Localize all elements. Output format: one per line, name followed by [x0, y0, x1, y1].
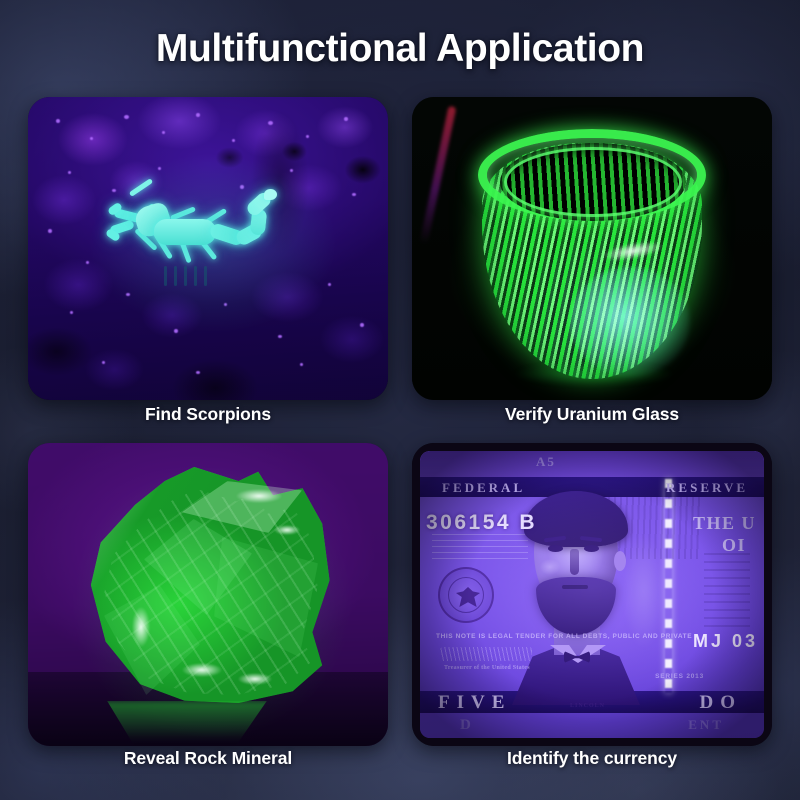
- scorpion-figure: [114, 175, 304, 310]
- banknote-strip-code: MJ 03: [693, 631, 758, 652]
- portrait-eye: [584, 545, 599, 552]
- uranium-glass-bowl: [474, 117, 710, 382]
- banknote-bottom-edge-left: D: [460, 717, 475, 734]
- image-card-reveal-rock-mineral[interactable]: [28, 443, 388, 746]
- feature-grid: Find Scorpions Verify Uranium Glass: [28, 97, 772, 773]
- card-caption: Reveal Rock Mineral: [28, 748, 388, 769]
- feature-cell-find-scorpions: Find Scorpions: [28, 97, 388, 443]
- banknote-denomination-right: DO: [700, 692, 743, 714]
- feature-cell-verify-uranium-glass: Verify Uranium Glass: [412, 97, 772, 443]
- portrait-ear: [614, 551, 626, 571]
- banknote-legal-tender-text: THIS NOTE IS LEGAL TENDER FOR ALL DEBTS,…: [436, 633, 692, 641]
- banknote-portrait-name: LINCOLN: [570, 703, 605, 709]
- bowl-base-glow: [514, 363, 674, 385]
- uv-security-strip: [665, 479, 672, 693]
- banknote-series-text: SERIES 2013: [655, 673, 704, 680]
- card-caption: Find Scorpions: [28, 404, 388, 425]
- banknote-right-lathework: [704, 547, 750, 631]
- banknote: A5: [420, 451, 764, 738]
- image-card-find-scorpions[interactable]: [28, 97, 388, 400]
- banknote-the-united-text: THE U: [693, 513, 756, 534]
- card-caption: Verify Uranium Glass: [412, 404, 772, 425]
- portrait-cheek-highlight: [540, 559, 560, 575]
- bowl-inner-rim: [504, 147, 682, 217]
- feature-cell-identify-the-currency: A5: [412, 443, 772, 789]
- banknote-reserve-text: RESERVE: [666, 480, 748, 496]
- image-card-identify-the-currency[interactable]: A5: [412, 443, 772, 746]
- federal-reserve-seal: [438, 567, 494, 623]
- portrait-mouth: [562, 585, 588, 589]
- portrait-hair: [524, 491, 628, 547]
- feature-cell-reveal-rock-mineral: Reveal Rock Mineral: [28, 443, 388, 789]
- page-title: Multifunctional Application: [0, 27, 800, 71]
- promo-graphic: Multifunctional Application: [0, 0, 800, 800]
- bowl-cyan-hotspot: [570, 267, 690, 377]
- banknote-signature-title: Treasurer of the United States: [444, 665, 530, 671]
- image-card-verify-uranium-glass[interactable]: [412, 97, 772, 400]
- banknote-of-text: OI: [722, 535, 746, 556]
- banknote-serial-number: 306154 B: [426, 511, 537, 535]
- mineral-specimen: [86, 467, 332, 717]
- portrait-nose: [570, 549, 579, 575]
- banknote-top-edge-text: A5: [536, 454, 556, 470]
- eagle-icon: [456, 587, 480, 607]
- banknote-bottom-edge-right: ENT: [688, 717, 724, 733]
- banknote-denomination-left: FIVE: [438, 692, 511, 714]
- banknote-signature: [440, 647, 532, 661]
- banknote-federal-text: FEDERAL: [442, 480, 525, 496]
- portrait-eye: [548, 545, 563, 552]
- card-caption: Identify the currency: [412, 748, 772, 769]
- banknote-top-edge: A5: [420, 451, 764, 477]
